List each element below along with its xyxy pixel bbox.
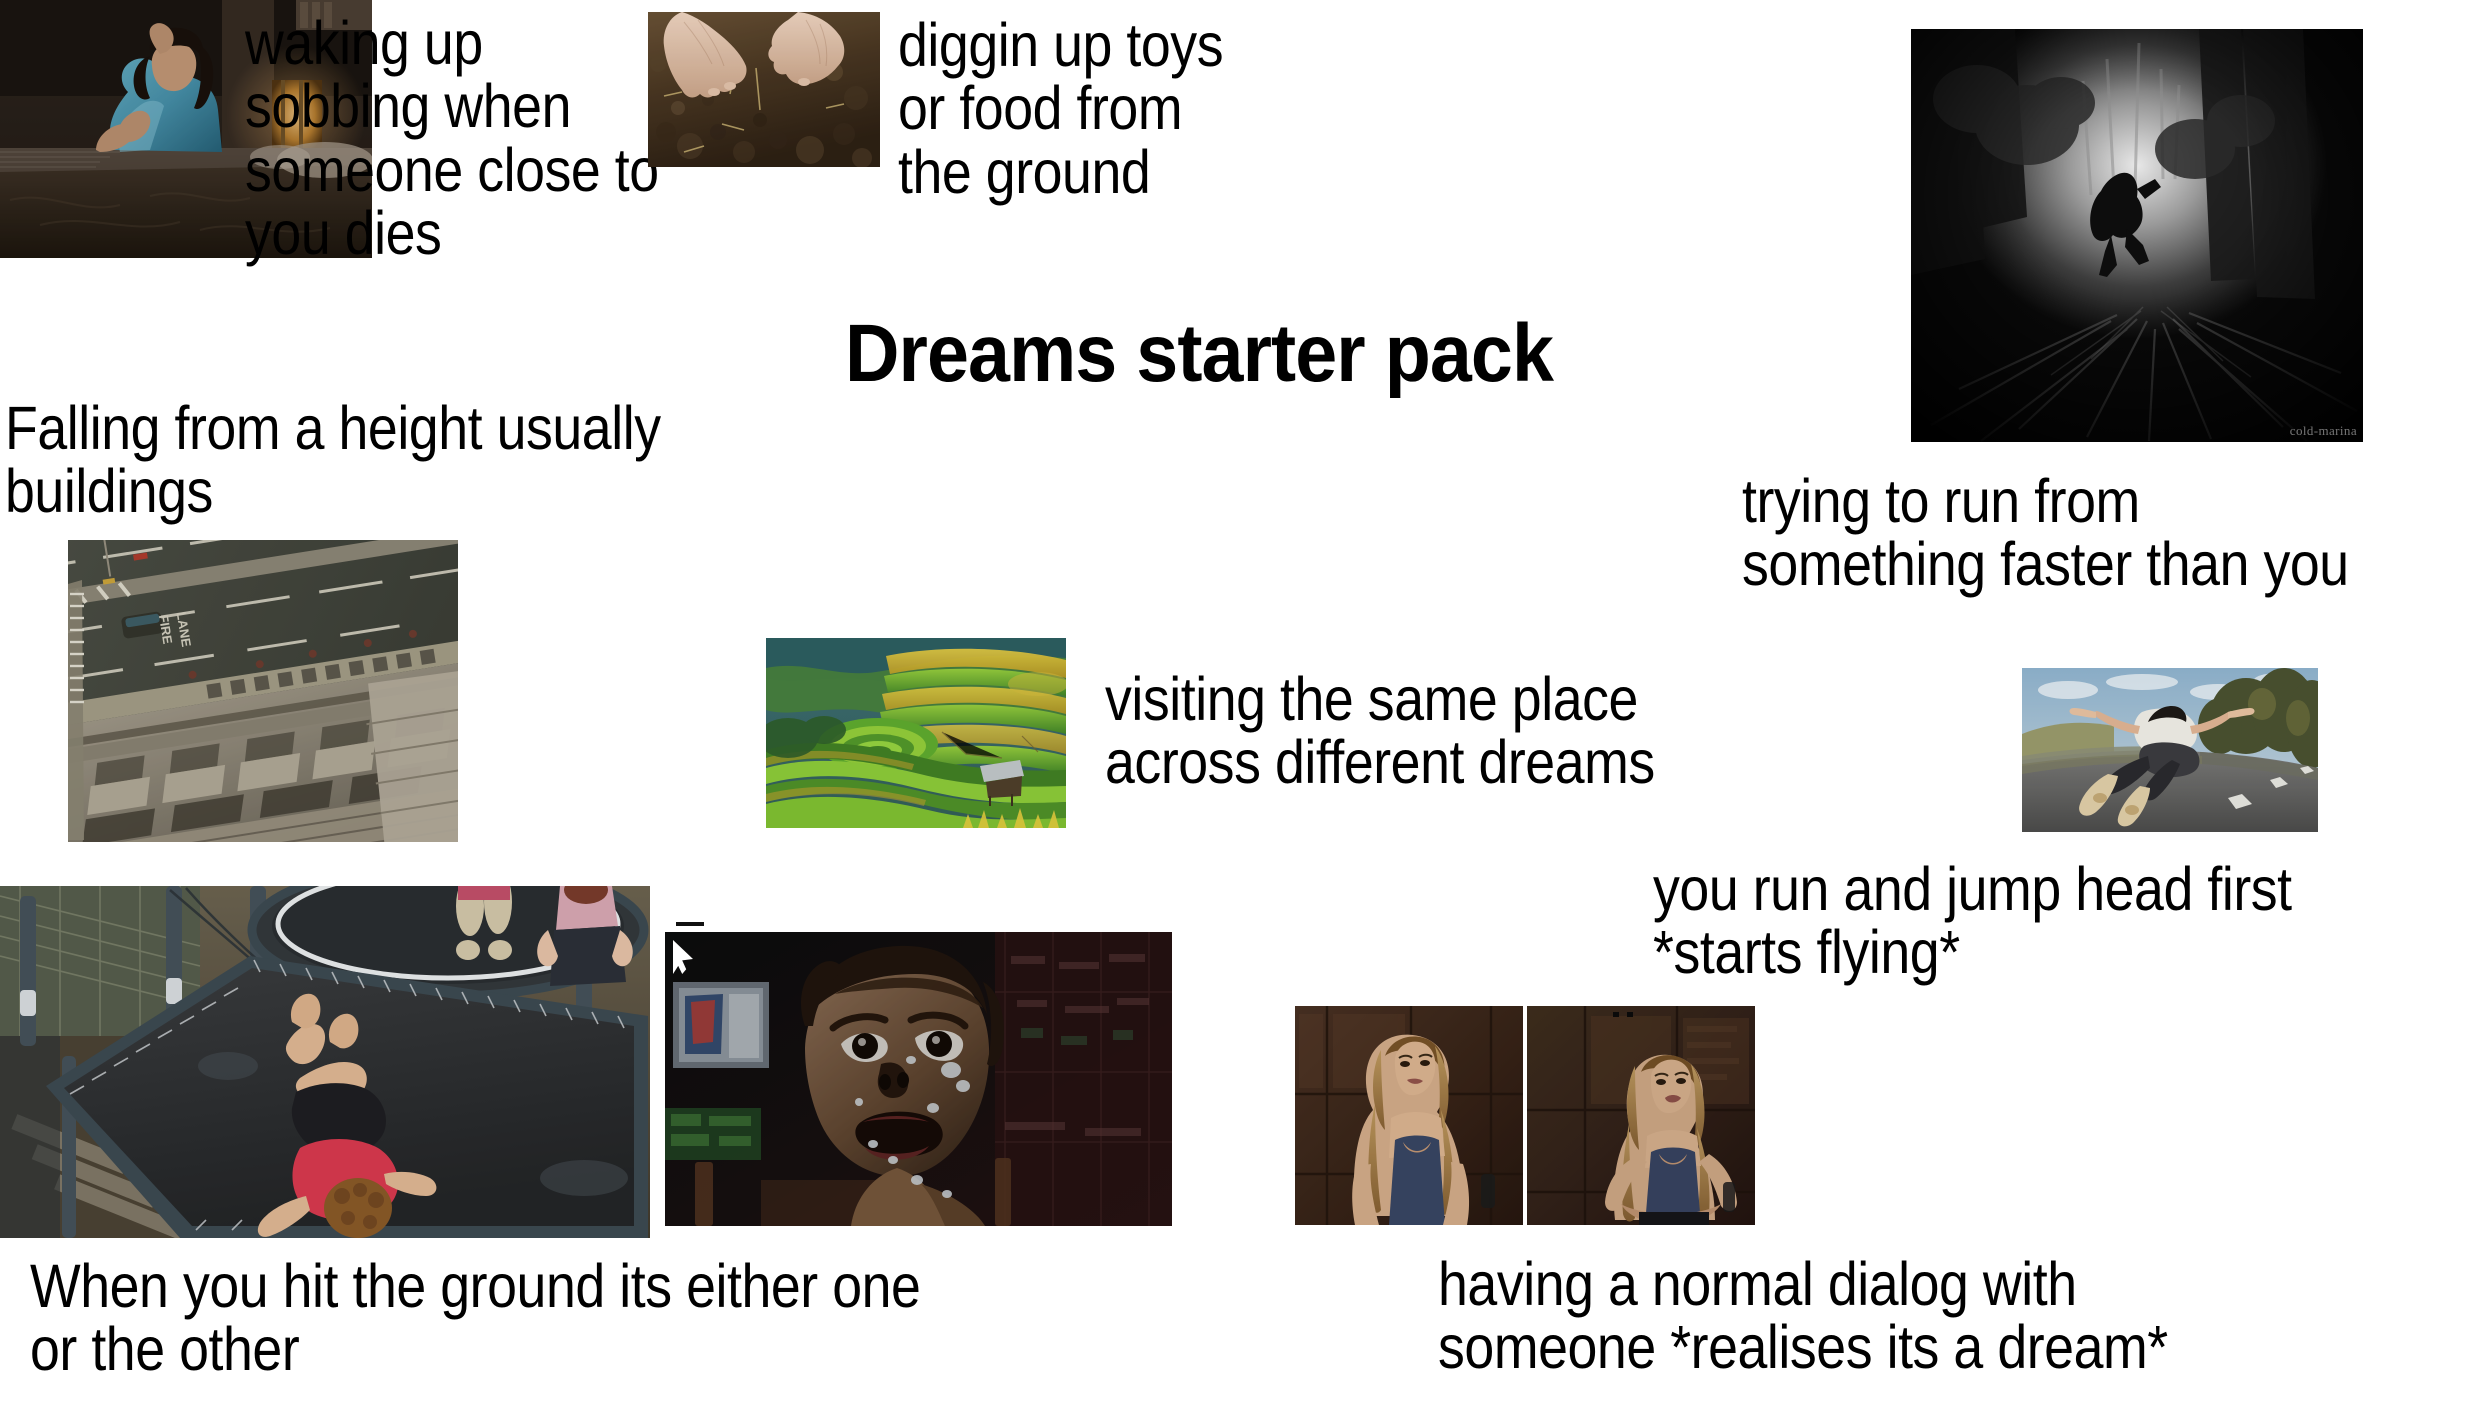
page-title: Dreams starter pack [845,313,1553,395]
meme-canvas: waking up sobbing when someone close to … [0,0,2490,1426]
person-face-down-on-trampoline-photo [0,886,650,1238]
caption-run-and-jump-flying: you run and jump head first *starts flyi… [1653,858,2445,985]
woman-standing-frame-one-photo [1295,1006,1523,1225]
stray-dash-artifact [676,922,704,926]
looking-down-building-onto-street-photo: LANE FIRE [68,540,458,842]
man-flying-over-road-photo [2022,668,2318,832]
caption-visiting-same-place: visiting the same place across different… [1105,668,1791,795]
scared-sweating-face-photo [665,932,1172,1226]
caption-hit-the-ground: When you hit the ground its either one o… [30,1255,1086,1382]
caption-trying-to-run: trying to run from something faster than… [1742,470,2490,597]
hands-digging-in-soil-photo [648,12,880,167]
woman-standing-frame-two-photo [1527,1006,1755,1225]
caption-diggin-up-toys: diggin up toys or food from the ground [898,14,1356,204]
caption-falling-from-height: Falling from a height usually buildings [5,397,850,524]
image-watermark: cold-marina [2290,423,2357,439]
running-through-dark-forest-photo: cold-marina [1911,29,2363,442]
green-rice-terraces-photo [766,638,1066,828]
caption-normal-dialog-realises: having a normal dialog with someone *rea… [1438,1253,2406,1380]
